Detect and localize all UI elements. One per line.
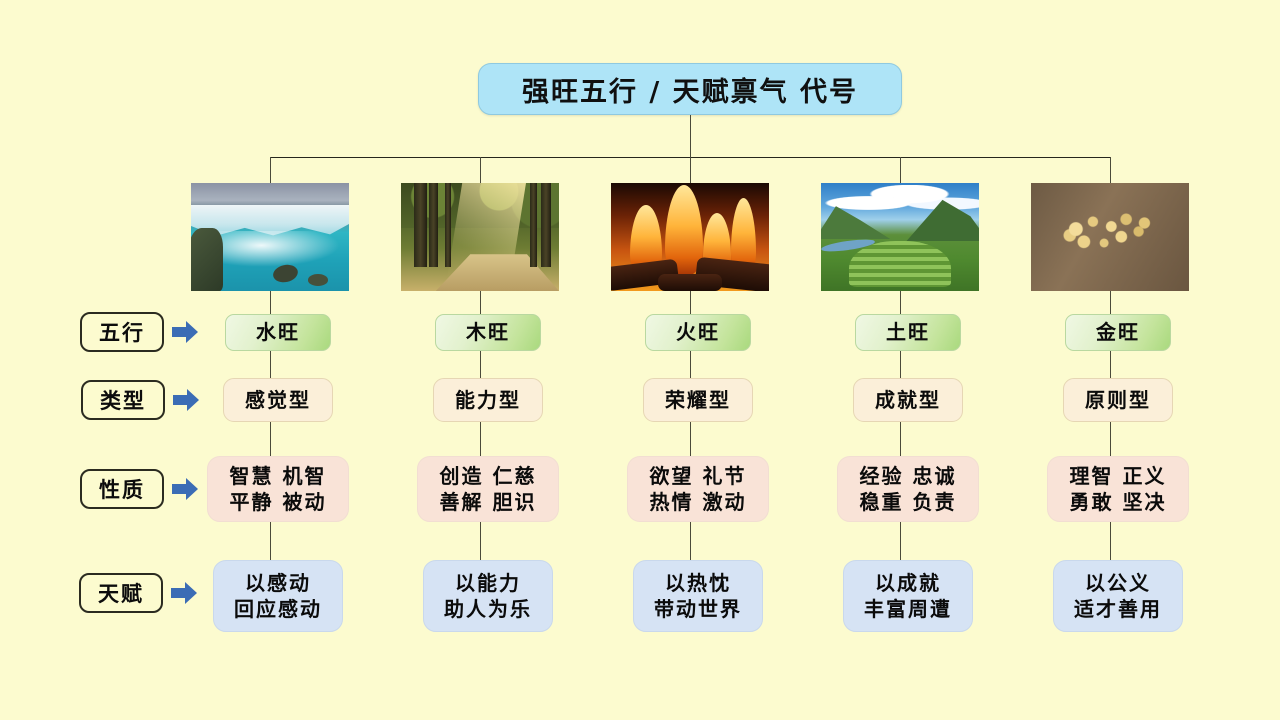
page-title: 强旺五行 / 天赋禀气 代号: [522, 70, 858, 109]
trait-box-metal[interactable]: 理智 正义 勇敢 坚决: [1047, 456, 1189, 522]
connector-col5-img-element: [1110, 291, 1111, 314]
element-box-earth[interactable]: 土旺: [855, 314, 961, 351]
gift-box-wood[interactable]: 以能力 助人为乐: [423, 560, 553, 632]
connector-col1-img-element: [270, 291, 271, 314]
connector-drop-water: [270, 157, 271, 183]
diagram-title-box: 强旺五行 / 天赋禀气 代号: [478, 63, 902, 115]
connector-col1-element-type: [270, 351, 271, 378]
type-label: 原则型: [1085, 387, 1151, 413]
connector-drop-wood: [480, 157, 481, 183]
type-box-metal[interactable]: 原则型: [1063, 378, 1173, 422]
gift-box-metal[interactable]: 以公义 适才善用: [1053, 560, 1183, 632]
right-arrow-icon: [172, 478, 198, 500]
gift-label: 以感动 回应感动: [234, 570, 322, 623]
connector-col3-img-element: [690, 291, 691, 314]
trait-box-earth[interactable]: 经验 忠诚 稳重 负责: [837, 456, 979, 522]
image-forest-road: [401, 183, 559, 291]
trait-label: 欲望 礼节 热情 激动: [650, 463, 747, 516]
type-box-water[interactable]: 感觉型: [223, 378, 333, 422]
type-label: 感觉型: [245, 387, 311, 413]
image-gold-nuggets: [1031, 183, 1189, 291]
right-arrow-icon: [172, 321, 198, 343]
connector-col2-img-element: [480, 291, 481, 314]
gift-label: 以热忱 带动世界: [654, 570, 742, 623]
connector-col3-type-trait: [690, 422, 691, 456]
connector-drop-metal: [1110, 157, 1111, 183]
row-label-element-text: 五行: [99, 317, 145, 347]
trait-label: 创造 仁慈 善解 胆识: [440, 463, 537, 516]
trait-label: 理智 正义 勇敢 坚决: [1070, 463, 1167, 516]
element-label: 金旺: [1096, 319, 1140, 345]
row-label-type: 类型: [81, 380, 165, 420]
trait-box-fire[interactable]: 欲望 礼节 热情 激动: [627, 456, 769, 522]
gift-box-fire[interactable]: 以热忱 带动世界: [633, 560, 763, 632]
row-label-type-text: 类型: [100, 385, 146, 415]
connector-col3-element-type: [690, 351, 691, 378]
element-box-fire[interactable]: 火旺: [645, 314, 751, 351]
connector-col5-element-type: [1110, 351, 1111, 378]
connector-col4-type-trait: [900, 422, 901, 456]
gift-label: 以能力 助人为乐: [444, 570, 532, 623]
trait-box-water[interactable]: 智慧 机智 平静 被动: [207, 456, 349, 522]
element-box-wood[interactable]: 木旺: [435, 314, 541, 351]
connector-col1-trait-gift: [270, 522, 271, 560]
right-arrow-icon: [173, 389, 199, 411]
connector-col5-trait-gift: [1110, 522, 1111, 560]
connector-col4-trait-gift: [900, 522, 901, 560]
connector-col1-type-trait: [270, 422, 271, 456]
type-box-wood[interactable]: 能力型: [433, 378, 543, 422]
gift-label: 以公义 适才善用: [1074, 570, 1162, 623]
element-label: 水旺: [256, 319, 300, 345]
trait-box-wood[interactable]: 创造 仁慈 善解 胆识: [417, 456, 559, 522]
right-arrow-icon: [171, 582, 197, 604]
element-box-metal[interactable]: 金旺: [1065, 314, 1171, 351]
connector-col4-img-element: [900, 291, 901, 314]
type-label: 荣耀型: [665, 387, 731, 413]
trait-label: 经验 忠诚 稳重 负责: [860, 463, 957, 516]
type-box-fire[interactable]: 荣耀型: [643, 378, 753, 422]
gift-box-earth[interactable]: 以成就 丰富周遭: [843, 560, 973, 632]
connector-col2-element-type: [480, 351, 481, 378]
image-terraced-valley: [821, 183, 979, 291]
element-label: 木旺: [466, 319, 510, 345]
connector-col2-type-trait: [480, 422, 481, 456]
type-label: 成就型: [875, 387, 941, 413]
row-label-element: 五行: [80, 312, 164, 352]
row-label-trait: 性质: [80, 469, 164, 509]
row-label-trait-text: 性质: [99, 474, 145, 504]
type-label: 能力型: [455, 387, 521, 413]
connector-drop-fire: [690, 157, 691, 183]
row-label-gift: 天赋: [79, 573, 163, 613]
connector-col4-element-type: [900, 351, 901, 378]
connector-drop-earth: [900, 157, 901, 183]
connector-title-trunk: [690, 115, 691, 157]
gift-box-water[interactable]: 以感动 回应感动: [213, 560, 343, 632]
image-campfire: [611, 183, 769, 291]
trait-label: 智慧 机智 平静 被动: [230, 463, 327, 516]
gift-label: 以成就 丰富周遭: [864, 570, 952, 623]
connector-col2-trait-gift: [480, 522, 481, 560]
element-box-water[interactable]: 水旺: [225, 314, 331, 351]
row-label-gift-text: 天赋: [98, 578, 144, 608]
image-waterfall: [191, 183, 349, 291]
connector-col5-type-trait: [1110, 422, 1111, 456]
connector-col3-trait-gift: [690, 522, 691, 560]
element-label: 土旺: [886, 319, 930, 345]
type-box-earth[interactable]: 成就型: [853, 378, 963, 422]
diagram-canvas: 强旺五行 / 天赋禀气 代号 五行: [0, 0, 1280, 720]
element-label: 火旺: [676, 319, 720, 345]
